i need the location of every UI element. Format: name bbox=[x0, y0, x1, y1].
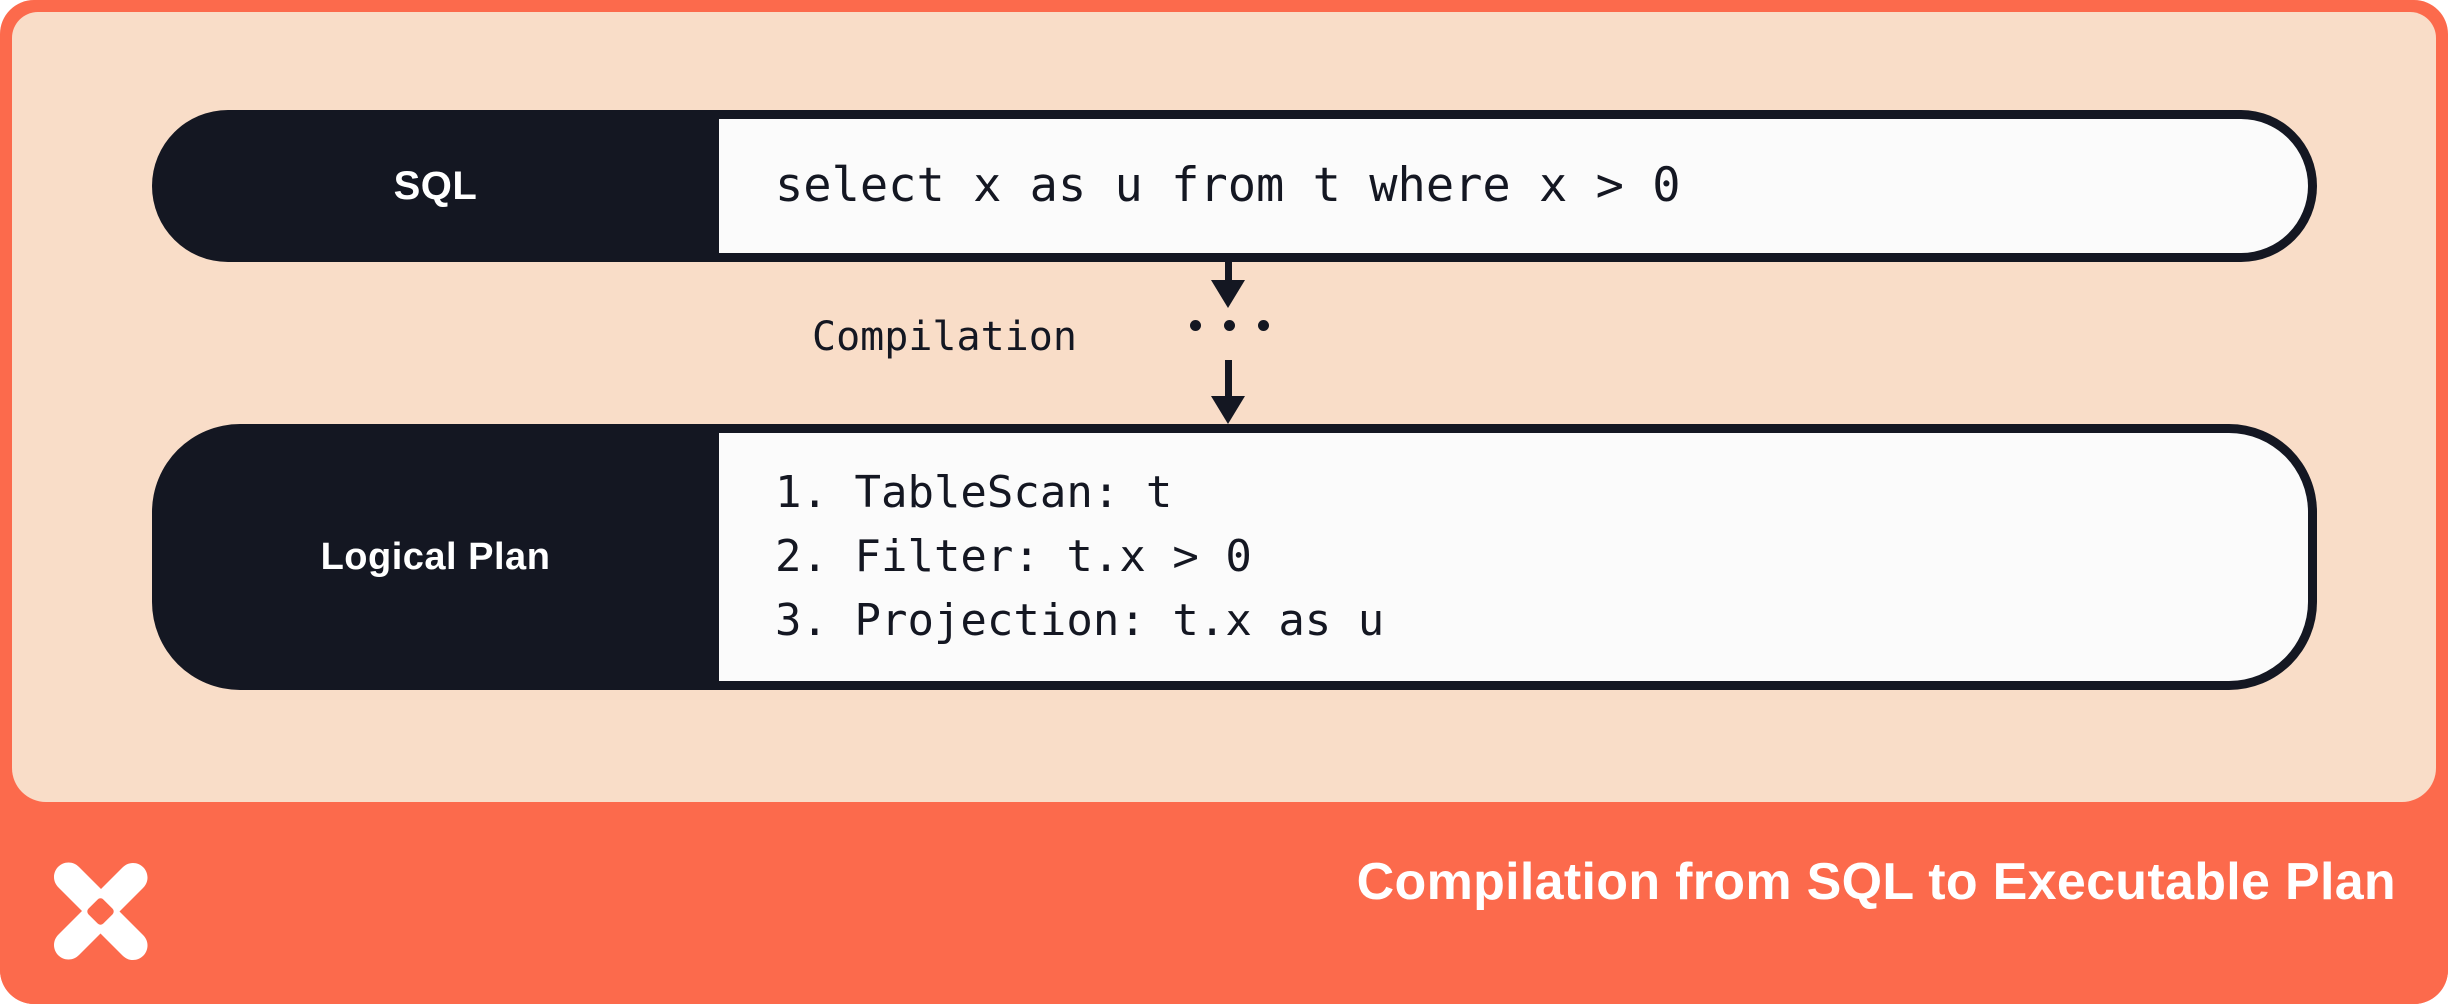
logical-plan-row: Logical Plan 1. TableScan: t 2. Filter: … bbox=[152, 424, 2317, 690]
sql-row-label: SQL bbox=[152, 110, 719, 262]
ellipsis-dot bbox=[1224, 320, 1235, 331]
arrow-head bbox=[1211, 396, 1245, 424]
sql-label-text: SQL bbox=[394, 164, 478, 209]
arrow-shaft bbox=[1225, 360, 1232, 400]
plan-step-2: 2. Filter: t.x > 0 bbox=[775, 525, 2308, 589]
arrow-head bbox=[1211, 280, 1245, 308]
sql-code-box: select x as u from t where x > 0 bbox=[719, 110, 2317, 262]
compilation-arrow-bottom-icon bbox=[1205, 360, 1251, 424]
diagram-panel: SQL select x as u from t where x > 0 Com… bbox=[12, 12, 2436, 802]
footer-bar: Compilation from SQL to Executable Plan bbox=[0, 802, 2448, 1004]
sql-row: SQL select x as u from t where x > 0 bbox=[152, 110, 2317, 262]
ellipsis-icon bbox=[1190, 320, 1269, 331]
logical-plan-row-label: Logical Plan bbox=[152, 424, 719, 690]
sql-code-line-1: select x as u from t where x > 0 bbox=[775, 160, 2308, 213]
diagram-card: SQL select x as u from t where x > 0 Com… bbox=[0, 0, 2448, 1004]
logical-plan-label-text: Logical Plan bbox=[321, 536, 551, 579]
logical-plan-code-box: 1. TableScan: t 2. Filter: t.x > 0 3. Pr… bbox=[719, 424, 2317, 690]
footer-caption: Compilation from SQL to Executable Plan bbox=[1357, 852, 2396, 912]
plan-step-3: 3. Projection: t.x as u bbox=[775, 589, 2308, 653]
plan-step-1: 1. TableScan: t bbox=[775, 461, 2308, 525]
ellipsis-dot bbox=[1258, 320, 1269, 331]
compilation-label: Compilation bbox=[812, 314, 1077, 360]
x-mark-logo-icon bbox=[40, 845, 160, 965]
compilation-arrow-top-icon bbox=[1205, 262, 1251, 308]
ellipsis-dot bbox=[1190, 320, 1201, 331]
